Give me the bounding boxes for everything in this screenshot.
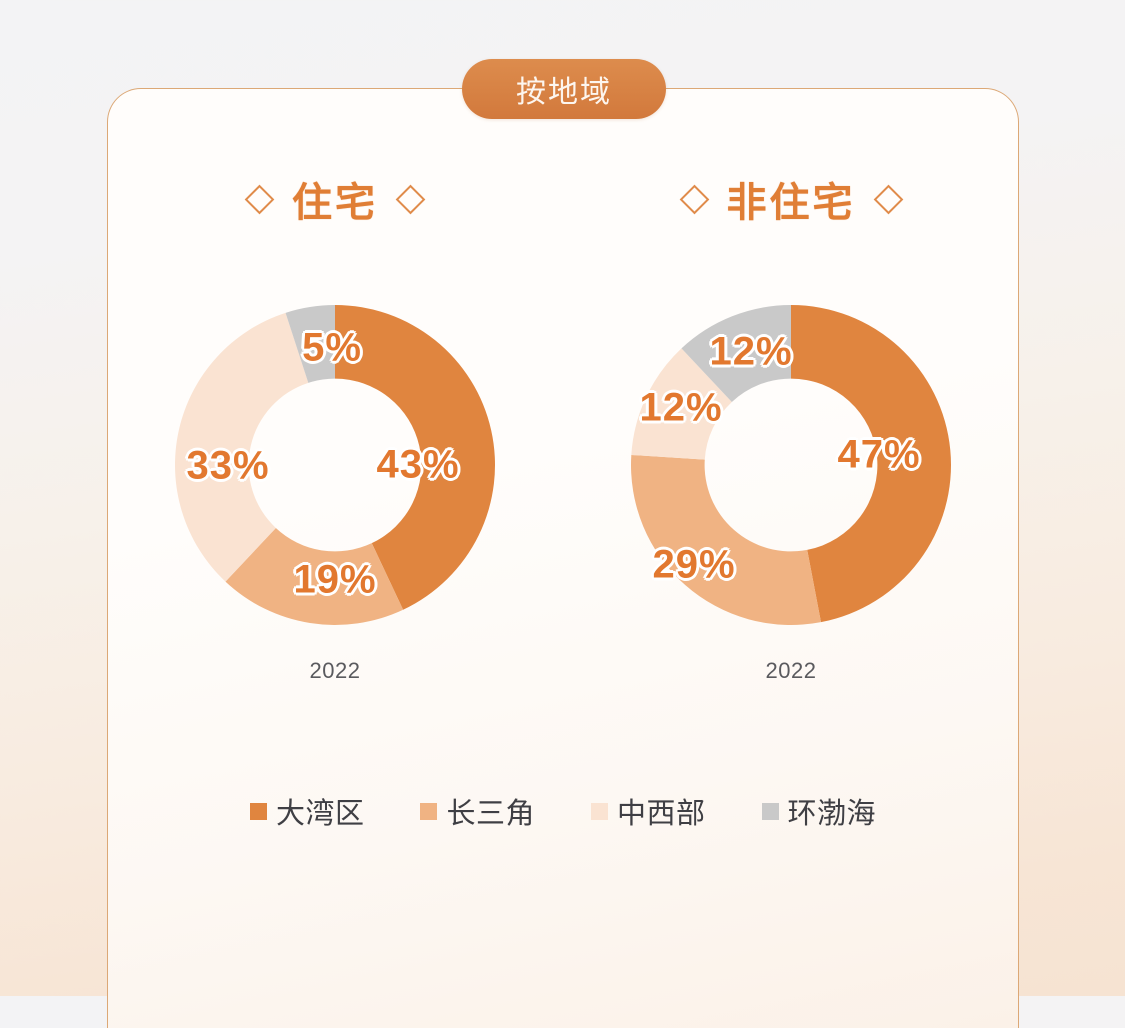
diamond-icon: [873, 184, 903, 214]
donut-wrap: 43% 19% 33% 5%: [170, 300, 500, 630]
legend-item[interactable]: 中西部: [591, 790, 706, 832]
chart-year-label: 2022: [310, 658, 361, 684]
legend-swatch-icon: [250, 803, 267, 820]
donut-slice-label: 5%: [302, 326, 362, 371]
chart-heading-non-residential: 非住宅: [563, 170, 1019, 228]
diamond-icon: [245, 184, 275, 214]
infographic-page: 按地域 住宅 非住宅 43% 19% 33% 5% 2022: [0, 0, 1125, 996]
chart-heading-label: 住宅: [292, 170, 378, 228]
legend-label: 长三角: [446, 790, 535, 832]
legend-item[interactable]: 环渤海: [762, 790, 877, 832]
legend-swatch-icon: [420, 803, 437, 820]
legend-label: 中西部: [617, 790, 706, 832]
chart-headings-row: 住宅 非住宅: [107, 170, 1019, 228]
donut-slice-label: 12%: [639, 386, 722, 431]
diamond-icon: [396, 184, 426, 214]
legend-item[interactable]: 大湾区: [250, 790, 365, 832]
diamond-icon: [679, 184, 709, 214]
donut-slice-label: 29%: [652, 543, 735, 588]
donut-slice-label: 19%: [293, 558, 376, 603]
donut-slice-label: 33%: [186, 444, 269, 489]
legend-swatch-icon: [591, 803, 608, 820]
donut-chart-residential: 43% 19% 33% 5% 2022: [107, 300, 563, 684]
section-tab-label: 按地域: [516, 67, 612, 111]
donut-slice-label: 43%: [376, 443, 459, 488]
donut-slice-label: 47%: [837, 433, 920, 478]
legend-item[interactable]: 长三角: [420, 790, 535, 832]
legend-label: 环渤海: [788, 790, 877, 832]
chart-heading-residential: 住宅: [107, 170, 563, 228]
donut-wrap: 47% 29% 12% 12%: [626, 300, 956, 630]
legend-swatch-icon: [762, 803, 779, 820]
donut-chart-non-residential: 47% 29% 12% 12% 2022: [563, 300, 1019, 684]
chart-heading-label: 非住宅: [727, 170, 856, 228]
donut-charts-row: 43% 19% 33% 5% 2022 47% 29% 12% 12% 2022: [107, 300, 1019, 684]
donut-slice[interactable]: [631, 455, 821, 625]
legend-label: 大湾区: [276, 790, 365, 832]
chart-year-label: 2022: [766, 658, 817, 684]
chart-legend: 大湾区 长三角 中西部 环渤海: [107, 790, 1019, 832]
section-tab-by-region[interactable]: 按地域: [462, 59, 666, 119]
donut-slice-label: 12%: [709, 330, 792, 375]
